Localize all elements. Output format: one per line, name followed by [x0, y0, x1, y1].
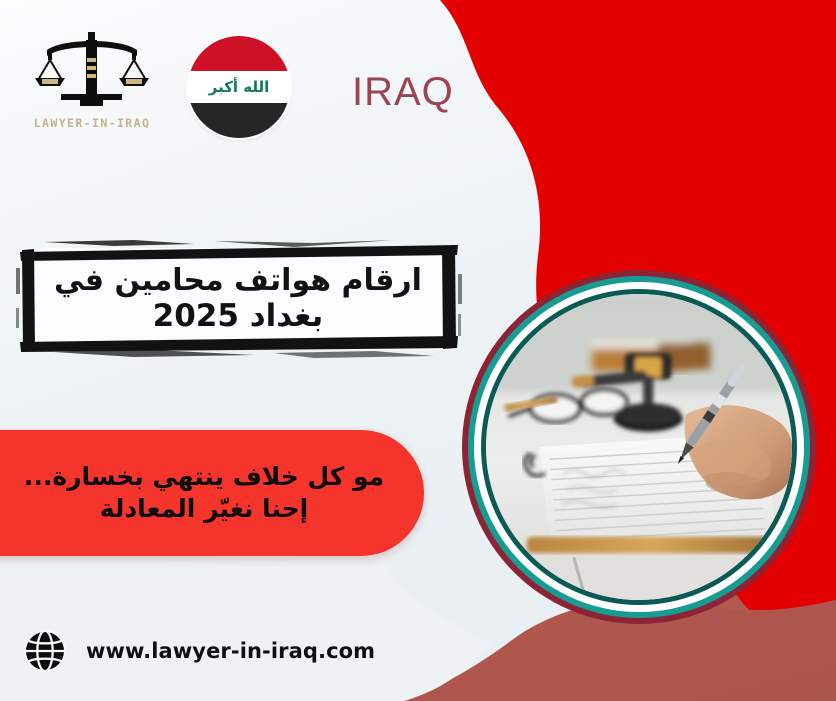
iraq-flag-icon: الله أكبر	[188, 36, 290, 138]
scales-of-justice-icon	[33, 28, 151, 112]
title-box: ارقام هواتف محامين في بغداد 2025	[14, 238, 462, 360]
poster-canvas: LAWYER-IN-IRAQ الله أكبر IRAQ	[0, 0, 836, 701]
poster-header: LAWYER-IN-IRAQ الله أكبر IRAQ	[0, 0, 520, 160]
slogan-line-2: إحنا نغيّر المعادلة	[0, 493, 408, 526]
photo-ring-outer	[462, 270, 816, 624]
flag-takbir-text: الله أكبر	[188, 71, 290, 104]
photo-ring-white	[474, 282, 804, 612]
website-url[interactable]: www.lawyer-in-iraq.com	[86, 639, 375, 663]
slogan-text: مو كل خلاف ينتهي بخسارة... إحنا نغيّر ال…	[0, 430, 408, 556]
flag-stripe-black	[188, 103, 290, 138]
photo-ring-teal	[468, 276, 810, 618]
brand-logo[interactable]: LAWYER-IN-IRAQ	[28, 28, 156, 143]
slogan-line-1: مو كل خلاف ينتهي بخسارة...	[0, 461, 408, 494]
country-label: IRAQ	[352, 70, 454, 115]
photo-ring-inner-teal	[481, 289, 797, 605]
globe-icon	[22, 628, 68, 674]
gavel-glasses-notebook-photo	[486, 294, 792, 600]
title-line-2: بغداد 2025	[32, 298, 444, 335]
flag-stripe-red	[188, 36, 290, 71]
photo-artwork	[486, 294, 792, 600]
title-line-1: ارقام هواتف محامين في	[32, 263, 444, 298]
brand-logo-caption: LAWYER-IN-IRAQ	[28, 116, 156, 130]
page-title: ارقام هواتف محامين في بغداد 2025	[32, 252, 444, 346]
slogan-banner: مو كل خلاف ينتهي بخسارة... إحنا نغيّر ال…	[0, 430, 424, 556]
site-footer[interactable]: www.lawyer-in-iraq.com	[22, 628, 375, 674]
